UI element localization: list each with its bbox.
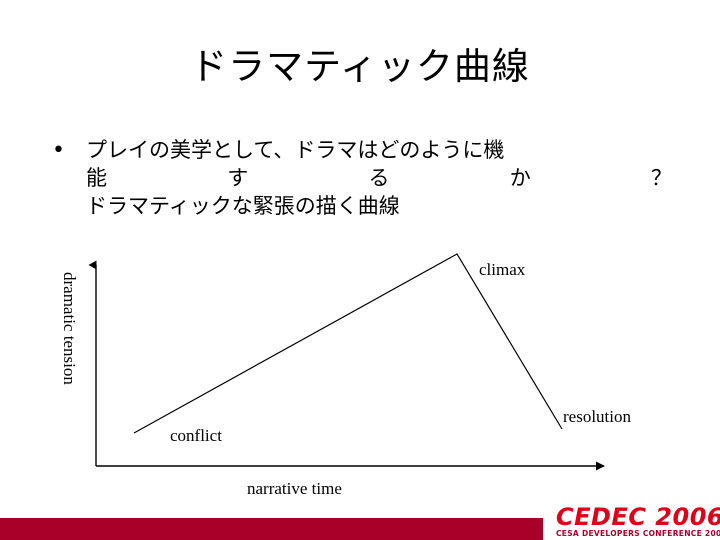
dramatic-curve-chart: climax conflict resolution narrative tim… bbox=[0, 240, 720, 505]
body-line-3: ドラマティックな緊張の描く曲線 bbox=[86, 192, 672, 220]
body-line-2-segment-5: ？ bbox=[651, 164, 672, 192]
bullet-item: • プレイの美学として、ドラマはどのように機 能 す る か ？ ドラマティック… bbox=[52, 136, 672, 220]
body-line-2-segment-1: 能 bbox=[86, 164, 107, 192]
body-line-2: 能 す る か ？ bbox=[86, 164, 672, 192]
label-resolution: resolution bbox=[563, 407, 631, 426]
footer-accent-bar bbox=[0, 518, 543, 540]
body-line-1: プレイの美学として、ドラマはどのように機 bbox=[86, 136, 672, 164]
body-line-2-segment-2: す bbox=[227, 164, 248, 192]
tension-curve bbox=[134, 254, 562, 433]
page-title: ドラマティック曲線 bbox=[0, 45, 720, 89]
body-line-2-segment-4: か bbox=[510, 164, 531, 192]
cedec-logo-title: CEDEC 2006 bbox=[556, 506, 720, 528]
body-line-2-segment-3: る bbox=[369, 164, 390, 192]
label-conflict: conflict bbox=[170, 426, 222, 445]
label-climax: climax bbox=[479, 260, 526, 279]
y-axis-label: dramatic tension bbox=[60, 272, 79, 385]
bullet-marker-icon: • bbox=[52, 136, 86, 166]
body-content: • プレイの美学として、ドラマはどのように機 能 す る か ？ ドラマティック… bbox=[52, 136, 672, 220]
bullet-text: プレイの美学として、ドラマはどのように機 能 す る か ？ ドラマティックな緊… bbox=[86, 136, 672, 220]
cedec-logo-subtitle: CESA DEVELOPERS CONFERENCE 2006 bbox=[556, 529, 720, 539]
slide-canvas: ドラマティック曲線 • プレイの美学として、ドラマはどのように機 能 す る か… bbox=[0, 0, 720, 540]
x-axis-label: narrative time bbox=[247, 479, 342, 498]
cedec-logo: CEDEC 2006 CESA DEVELOPERS CONFERENCE 20… bbox=[556, 506, 720, 540]
